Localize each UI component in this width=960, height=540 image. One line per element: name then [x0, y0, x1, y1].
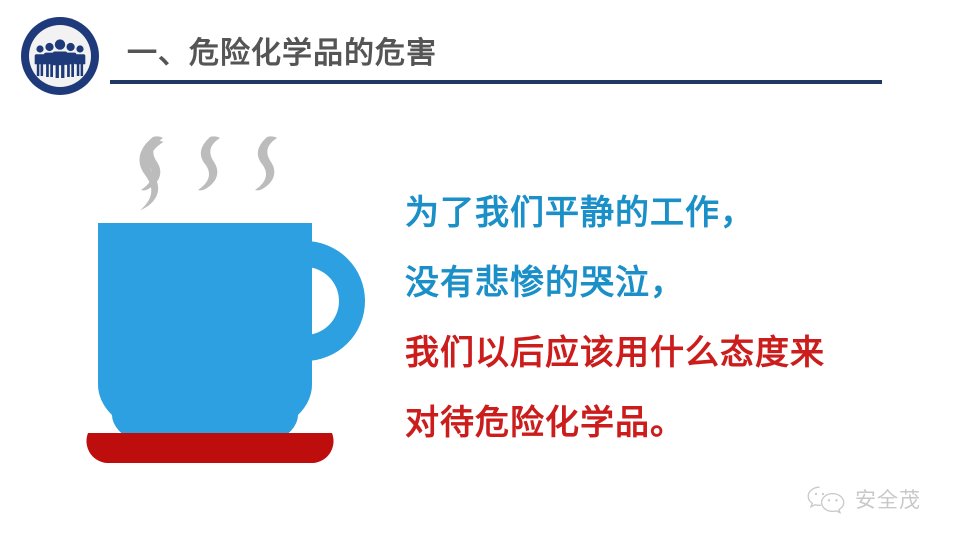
watermark-label: 安全茂 [855, 484, 921, 514]
header-badge-circle [21, 17, 99, 95]
header-badge-inner [29, 25, 91, 87]
cup-handle [305, 241, 365, 361]
message-text-block: 为了我们平静的工作， 没有悲惨的哭泣， 我们以后应该用什么态度来 对待危险化学品… [405, 178, 925, 458]
message-line-2: 没有悲惨的哭泣， [405, 248, 925, 318]
watermark: 安全茂 [805, 482, 921, 516]
slide-canvas: 一、危险化学品的危害 为了我们平静的工作， 没有悲惨的哭泣， 我们以后应 [0, 0, 960, 540]
cup-saucer [86, 433, 333, 463]
wechat-icon [805, 484, 847, 514]
cup-body [98, 223, 312, 456]
message-line-4: 对待危险化学品。 [405, 388, 925, 458]
group-of-people-icon [34, 38, 86, 78]
steam-wisp-3 [255, 136, 277, 190]
steaming-coffee-cup-illustration [80, 125, 380, 470]
steam-wisp-2 [198, 136, 220, 190]
message-line-1: 为了我们平静的工作， [405, 178, 925, 248]
coffee-cup-icon [80, 125, 380, 470]
message-line-3: 我们以后应该用什么态度来 [405, 318, 925, 388]
slide-header: 一、危险化学品的危害 [0, 0, 960, 110]
page-title: 一、危险化学品的危害 [127, 28, 437, 72]
header-divider [110, 80, 882, 84]
